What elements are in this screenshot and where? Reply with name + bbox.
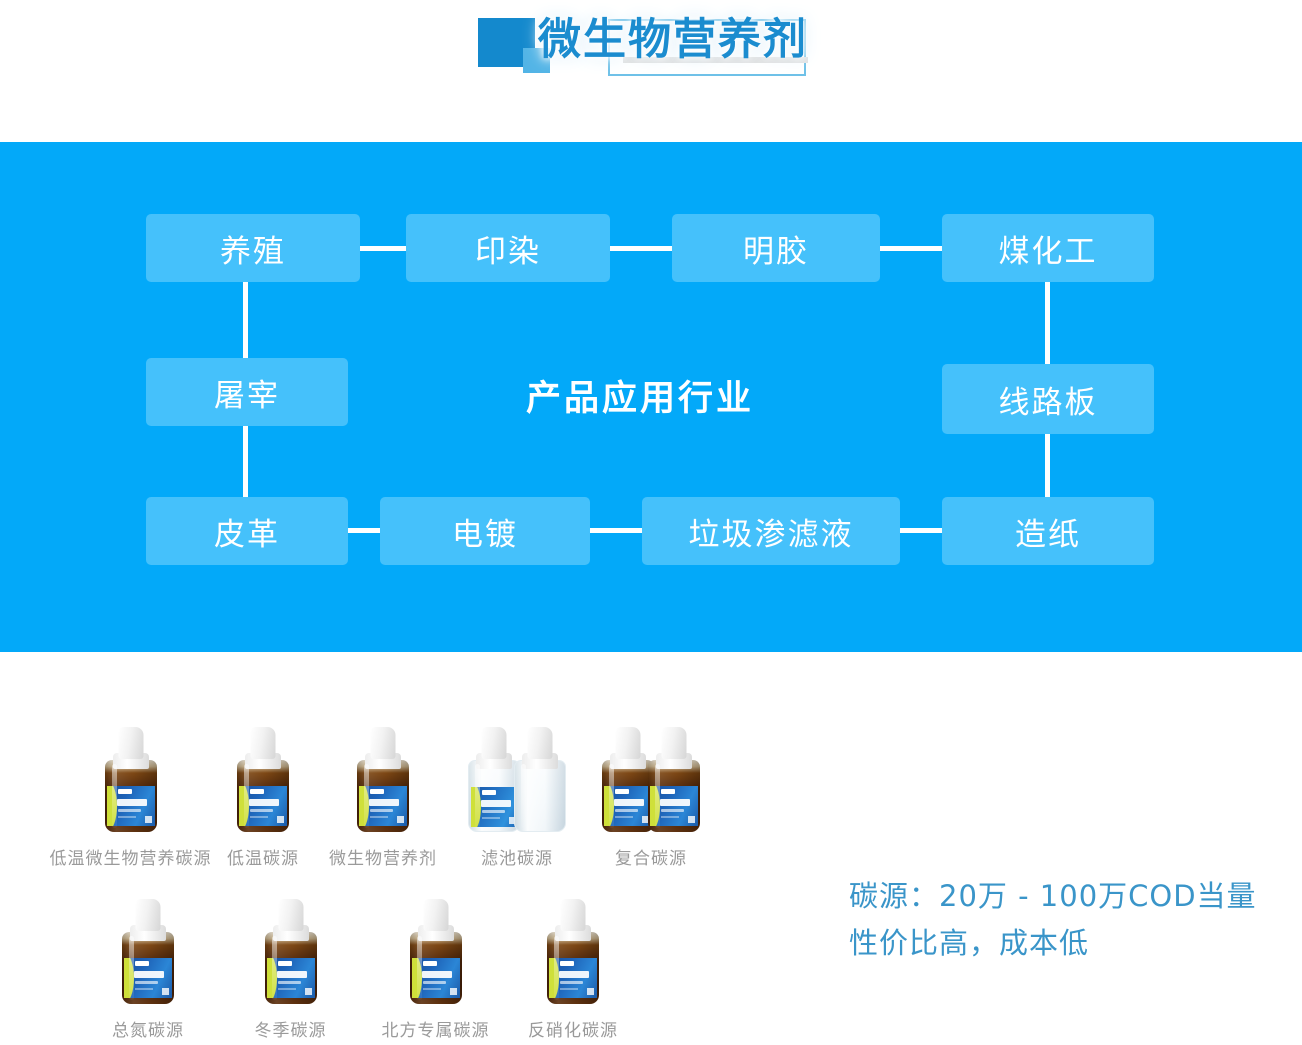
bottle-label-logo — [370, 789, 384, 794]
product-image — [237, 722, 289, 832]
bottle-label — [107, 786, 155, 826]
industry-node-diandu[interactable]: 电镀 — [380, 497, 590, 565]
bottle-label-lt — [117, 799, 147, 806]
bottle-label — [267, 958, 315, 998]
industry-node-mingjiao[interactable]: 明胶 — [672, 214, 880, 282]
bottle-label-lt3 — [423, 988, 441, 990]
connector-tuzai-pige — [243, 426, 248, 497]
bottle-label-lt2 — [135, 981, 158, 984]
bottle-label-lt3 — [615, 816, 633, 818]
bottle-label-mark — [277, 816, 284, 823]
bottle-label-lt2 — [278, 981, 301, 984]
product-bottle-clear — [468, 727, 520, 832]
industry-node-label: 养殖 — [220, 226, 286, 271]
industry-node-label: 电镀 — [452, 509, 518, 554]
product-name-label: 冬季碳源 — [255, 1016, 327, 1041]
product-name-label: 北方专属碳源 — [382, 1016, 490, 1041]
product-image — [602, 722, 700, 832]
product-bottle-dark — [547, 899, 599, 1004]
product-image — [122, 894, 174, 1004]
page-header: 微生物营养剂 — [0, 0, 1302, 142]
bottle-cap-icon — [251, 727, 276, 759]
bottle-label-lt2 — [661, 809, 684, 812]
bottle-label-logo — [560, 961, 574, 966]
bottle-label-logo — [661, 789, 675, 794]
product-row-1: 低温微生物营养碳源低温碳源微生物营养剂滤池碳源复合碳源 — [48, 722, 721, 869]
side-copy-line-1: 碳源：20万 - 100万COD当量 — [849, 873, 1257, 920]
bottle-label-mark — [587, 988, 594, 995]
industry-node-label: 线路板 — [999, 377, 1098, 422]
bottle-label-lt — [614, 799, 644, 806]
product-item[interactable]: 北方专属碳源 — [363, 894, 508, 1041]
product-bottle-clear — [514, 727, 566, 832]
product-name-label: 低温碳源 — [227, 844, 299, 869]
bottle-label-lt3 — [482, 817, 500, 819]
bottle-body — [547, 932, 599, 1004]
side-copy-line-2: 性价比高，成本低 — [849, 920, 1257, 967]
bottle-body — [237, 760, 289, 832]
bottle-label — [359, 786, 407, 826]
bottle-label — [650, 786, 698, 826]
connector-diandu-laji — [590, 528, 642, 533]
bottle-label-logo — [135, 961, 149, 966]
industry-node-tuzai[interactable]: 屠宰 — [146, 358, 348, 426]
product-item[interactable]: 反硝化碳源 — [508, 894, 638, 1041]
industry-node-label: 明胶 — [743, 226, 809, 271]
product-item[interactable]: 低温微生物营养碳源 — [48, 722, 213, 869]
bottle-label-lt — [249, 799, 279, 806]
bottle-label-lt3 — [250, 816, 268, 818]
industry-node-yinran[interactable]: 印染 — [406, 214, 610, 282]
bottle-cap-icon — [278, 899, 303, 931]
product-image — [265, 894, 317, 1004]
bottle-label-lt2 — [118, 809, 141, 812]
bottle-body — [648, 760, 700, 832]
industry-node-xianluban[interactable]: 线路板 — [942, 364, 1154, 434]
bottle-label — [471, 787, 519, 827]
page-title: 微生物营养剂 — [538, 10, 808, 70]
bottle-label-logo — [423, 961, 437, 966]
bottle-body — [105, 760, 157, 832]
industry-node-pige[interactable]: 皮革 — [146, 497, 348, 565]
bottle-label — [604, 786, 652, 826]
connector-yinran-mingjiao — [610, 246, 672, 251]
industry-node-label: 煤化工 — [999, 226, 1098, 271]
product-name-label: 总氮碳源 — [112, 1016, 184, 1041]
connector-meihuagong-xianluban — [1045, 282, 1050, 364]
bottle-label-mark — [450, 988, 457, 995]
product-image — [105, 722, 157, 832]
product-item[interactable]: 滤池碳源 — [453, 722, 581, 869]
bottle-label-lt3 — [560, 988, 578, 990]
bottle-label-lt2 — [560, 981, 583, 984]
bottle-cap-icon — [482, 727, 507, 759]
bottle-cap-icon — [561, 899, 586, 931]
bottle-body — [602, 760, 654, 832]
application-industry-panel: 产品应用行业 养殖印染明胶煤化工屠宰线路板皮革电镀垃圾渗滤液造纸 — [0, 142, 1302, 652]
product-bottle-dark — [122, 899, 174, 1004]
product-bottle-dark — [648, 727, 700, 832]
product-bottle-dark — [105, 727, 157, 832]
bottle-label-lt3 — [135, 988, 153, 990]
bottle-label — [239, 786, 287, 826]
connector-pige-diandu — [348, 528, 380, 533]
bottle-label — [549, 958, 597, 998]
bottle-body — [357, 760, 409, 832]
product-name-label: 微生物营养剂 — [329, 844, 437, 869]
product-bottle-dark — [357, 727, 409, 832]
bottle-label-logo — [250, 789, 264, 794]
bottle-label-lt — [559, 971, 589, 978]
bottle-label — [412, 958, 460, 998]
bottle-label-lt3 — [661, 816, 679, 818]
product-name-label: 复合碳源 — [615, 844, 687, 869]
bottle-label-lt2 — [370, 809, 393, 812]
bottle-label-lt — [422, 971, 452, 978]
bottle-label-lt — [369, 799, 399, 806]
bottle-cap-icon — [662, 727, 687, 759]
industry-node-yangzhi[interactable]: 养殖 — [146, 214, 360, 282]
bottle-label-lt — [660, 799, 690, 806]
bottle-label-lt3 — [118, 816, 136, 818]
industry-node-label: 皮革 — [214, 509, 280, 554]
bottle-label-lt — [481, 800, 511, 807]
bottle-cap-icon — [136, 899, 161, 931]
product-name-label: 反硝化碳源 — [528, 1016, 618, 1041]
industry-node-lajishenlu[interactable]: 垃圾渗滤液 — [642, 497, 900, 565]
bottle-body — [122, 932, 174, 1004]
industry-node-label: 屠宰 — [214, 370, 280, 415]
industry-node-label: 印染 — [475, 226, 541, 271]
product-item[interactable]: 总氮碳源 — [78, 894, 218, 1041]
bottle-label-logo — [118, 789, 132, 794]
product-bottle-dark — [237, 727, 289, 832]
bottle-label-lt2 — [615, 809, 638, 812]
product-item[interactable]: 复合碳源 — [581, 722, 721, 869]
bottle-body — [514, 760, 566, 832]
industry-node-meihuagong[interactable]: 煤化工 — [942, 214, 1154, 282]
bottle-label-lt2 — [482, 810, 505, 813]
side-copy-block: 碳源：20万 - 100万COD当量 性价比高，成本低 — [849, 873, 1257, 967]
bottle-cap-icon — [371, 727, 396, 759]
connector-mingjiao-meihuagong — [880, 246, 942, 251]
bottle-cap-icon — [616, 727, 641, 759]
product-item[interactable]: 低温碳源 — [213, 722, 313, 869]
bottle-cap-icon — [528, 727, 553, 759]
connector-xianluban-zaozhi — [1045, 434, 1050, 497]
bottle-label-mark — [145, 816, 152, 823]
bottle-label-lt — [134, 971, 164, 978]
product-image — [357, 722, 409, 832]
bottle-label-mark — [688, 816, 695, 823]
bottle-label-logo — [278, 961, 292, 966]
bottle-body — [410, 932, 462, 1004]
bottle-label-mark — [397, 816, 404, 823]
panel-center-title: 产品应用行业 — [526, 370, 754, 421]
bottle-label-logo — [615, 789, 629, 794]
connector-laji-zaozhi — [900, 528, 942, 533]
industry-node-zaozhi[interactable]: 造纸 — [942, 497, 1154, 565]
product-image — [468, 722, 566, 832]
product-image — [547, 894, 599, 1004]
product-image — [410, 894, 462, 1004]
bottle-body — [265, 932, 317, 1004]
product-item[interactable]: 微生物营养剂 — [313, 722, 453, 869]
bottle-cap-icon — [118, 727, 143, 759]
bottle-label — [124, 958, 172, 998]
connector-yangzhi-yinran — [360, 246, 406, 251]
product-bottle-dark — [410, 899, 462, 1004]
bottle-label-lt3 — [370, 816, 388, 818]
industry-node-label: 造纸 — [1015, 509, 1081, 554]
bottle-body — [468, 760, 520, 832]
industry-node-label: 垃圾渗滤液 — [689, 509, 854, 554]
connector-yangzhi-tuzai — [243, 282, 248, 358]
product-bottle-dark — [265, 899, 317, 1004]
bottle-label-lt2 — [250, 809, 273, 812]
bottle-label-mark — [305, 988, 312, 995]
product-row-2: 总氮碳源冬季碳源北方专属碳源反硝化碳源 — [78, 894, 638, 1041]
product-name-label: 低温微生物营养碳源 — [50, 844, 212, 869]
product-bottle-dark — [602, 727, 654, 832]
bottle-label-lt — [277, 971, 307, 978]
bottle-label-mark — [162, 988, 169, 995]
bottle-label-lt2 — [423, 981, 446, 984]
product-gallery: 低温微生物营养碳源低温碳源微生物营养剂滤池碳源复合碳源 总氮碳源冬季碳源北方专属… — [0, 652, 1302, 1045]
product-name-label: 滤池碳源 — [481, 844, 553, 869]
bottle-cap-icon — [423, 899, 448, 931]
bottle-label-logo — [482, 790, 496, 795]
bottle-label-lt3 — [278, 988, 296, 990]
product-item[interactable]: 冬季碳源 — [218, 894, 363, 1041]
